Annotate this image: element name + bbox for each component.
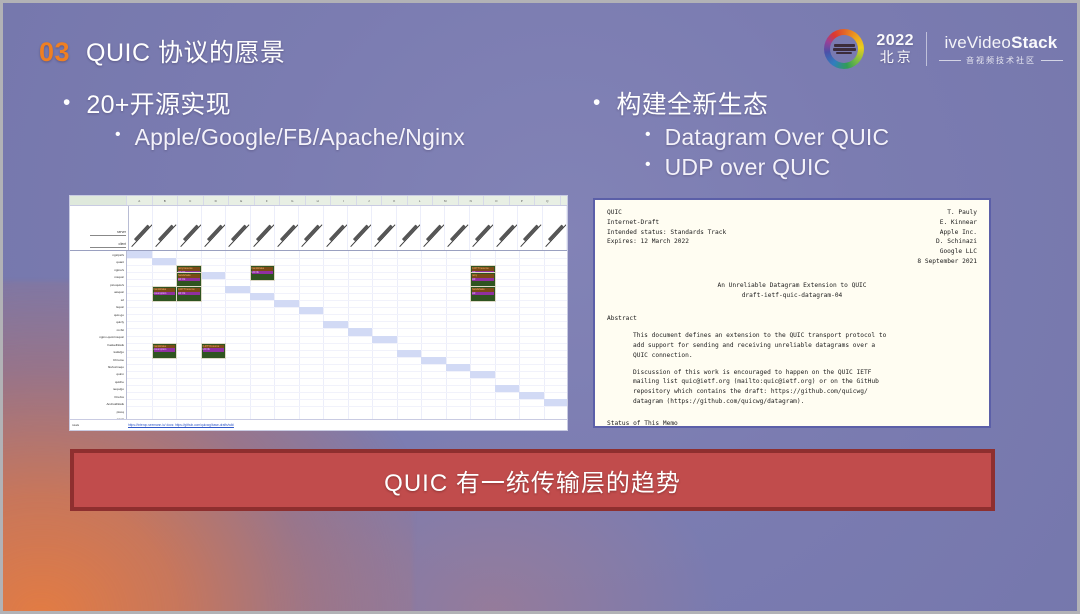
diagonal-text-mark-icon <box>180 224 201 247</box>
matrix-diagonal-label-cell <box>226 206 250 250</box>
matrix-diagonal-cell[interactable] <box>421 357 446 364</box>
bullet-dot-icon: • <box>115 123 121 147</box>
matrix-result-cell[interactable]: 0-RTT/resumeH3 Ok <box>201 343 227 359</box>
matrix-row-label: quiche <box>70 378 126 385</box>
matrix-axis-label-server: server <box>90 230 126 236</box>
matrix-gridline <box>446 251 447 423</box>
rfc-abstract-paragraph-1: This document defines an extension to th… <box>607 331 977 360</box>
matrix-gridline <box>127 364 567 365</box>
matrix-column-letter: A <box>127 196 153 205</box>
matrix-diagonal-labels <box>129 206 567 250</box>
matrix-diagonal-cell[interactable] <box>446 364 471 371</box>
diagonal-text-mark-icon <box>496 224 517 247</box>
matrix-row-label: aioquic <box>70 288 126 295</box>
brand-live: ive <box>945 33 967 52</box>
matrix-row-label: nginx/s <box>70 266 126 273</box>
brand-subtitle: 音视频技术社区 <box>966 55 1036 66</box>
matrix-column-letter: R <box>561 196 569 205</box>
matrix-result-line: H3 Ok <box>203 348 225 352</box>
bullet-level1-left-text: 20+开源实现 <box>86 91 231 121</box>
matrix-column-letter: B <box>153 196 179 205</box>
bullet-level2-right-2-text: UDP over QUIC <box>665 153 831 181</box>
brand-wordmark: iveVideoStack <box>945 33 1058 53</box>
matrix-diagonal-cell[interactable] <box>274 300 299 307</box>
matrix-row-label: firefox/neqo <box>70 363 126 370</box>
matrix-row-label: Chrome <box>70 356 126 363</box>
matrix-gridline <box>348 251 349 423</box>
matrix-column-letter: E <box>229 196 255 205</box>
matrix-grid: retry/resumeH3 OkhandshakeH3 Ok0-RTT/res… <box>127 251 567 423</box>
matrix-diagonal-cell[interactable] <box>250 293 275 300</box>
matrix-column-letter: I <box>331 196 357 205</box>
bullet-column-right: • 构建全新生态 • Datagram Over QUIC • UDP over… <box>593 91 889 181</box>
matrix-diagonal-label-cell <box>202 206 226 250</box>
conclusion-banner: QUIC 有一统传输层的趋势 <box>70 449 995 511</box>
matrix-row-label: msquic <box>70 273 126 280</box>
brand-rule-left-icon <box>939 60 961 61</box>
matrix-column-letter: K <box>382 196 408 205</box>
matrix-result-cell[interactable]: handshakeresumption <box>152 343 178 359</box>
matrix-diagonal-cell[interactable] <box>470 371 495 378</box>
matrix-gridline <box>299 251 300 423</box>
matrix-gridline <box>225 251 226 423</box>
matrix-row-label: picoquic/s <box>70 281 126 288</box>
matrix-diagonal-label-cell <box>543 206 567 250</box>
matrix-column-letter: D <box>204 196 230 205</box>
matrix-body: ngtcp2/squantnginx/smsquicpicoquic/saioq… <box>70 251 567 423</box>
matrix-gridline <box>544 251 545 423</box>
bullet-level2-left-1-text: Apple/Google/FB/Apache/Nginx <box>135 123 465 151</box>
rfc-header-right: T. Pauly E. Kinnear Apple Inc. D. Schina… <box>917 208 977 267</box>
quic-interop-matrix-screenshot: ABCDEFGHIJKLMNOPQR server client ngtcp2/… <box>69 195 568 431</box>
matrix-diagonal-cell[interactable] <box>299 307 324 314</box>
matrix-diagonal-label-cell <box>275 206 299 250</box>
brand-subtitle-row: 音视频技术社区 <box>939 55 1063 66</box>
bullet-level1-right: • 构建全新生态 <box>593 91 889 121</box>
matrix-gridline <box>127 357 567 358</box>
matrix-gridline <box>127 399 567 400</box>
matrix-result-line: H3 Ok <box>252 271 274 275</box>
matrix-result-line: resumption <box>154 292 176 296</box>
diagonal-text-mark-icon <box>156 224 177 247</box>
matrix-gridline <box>397 251 398 423</box>
slide-canvas: 03 QUIC 协议的愿景 2022 北京 iveVideoStack 音视频技… <box>0 0 1080 614</box>
matrix-footer-link[interactable]: https://interop.seemann.io/ docs: https:… <box>128 423 234 427</box>
bullet-level2-right-2: • UDP over QUIC <box>645 153 889 181</box>
matrix-gridline <box>127 314 567 315</box>
diagonal-text-mark-icon <box>448 224 469 247</box>
matrix-row-label: quinn <box>70 371 126 378</box>
bullet-level1-right-text: 构建全新生态 <box>616 91 768 121</box>
matrix-gridline <box>323 251 324 423</box>
matrix-row-label: quic-go <box>70 311 126 318</box>
event-year-city: 2022 北京 <box>876 33 914 64</box>
diagonal-text-mark-icon <box>545 224 566 247</box>
matrix-row-label: Firefox <box>70 393 126 400</box>
logo-divider <box>926 32 927 66</box>
matrix-result-line: H3 <box>472 278 494 282</box>
bullet-level2-right-1: • Datagram Over QUIC <box>645 123 889 151</box>
matrix-result-line: H3 Ok <box>178 278 200 282</box>
matrix-diagonal-cell[interactable] <box>348 328 373 335</box>
bullet-level2-right-1-text: Datagram Over QUIC <box>665 123 890 151</box>
ring-core-mark-icon <box>832 41 857 57</box>
event-logo-bar: 2022 北京 iveVideoStack 音视频技术社区 <box>824 29 1063 69</box>
event-ring-logo-icon <box>824 29 864 69</box>
matrix-axis-label-client: client <box>90 242 126 248</box>
section-number: 03 <box>39 37 70 68</box>
matrix-column-letter: C <box>178 196 204 205</box>
rfc-status-heading: Status of This Memo <box>607 419 977 428</box>
matrix-corner-cell <box>70 196 127 205</box>
matrix-diagonal-label-cell <box>299 206 323 250</box>
matrix-gridline <box>127 392 567 393</box>
matrix-column-letter: G <box>280 196 306 205</box>
matrix-diagonal-label-cell <box>129 206 153 250</box>
bullet-dot-icon: • <box>593 91 600 114</box>
matrix-result-line: H3 <box>472 292 494 296</box>
diagonal-text-mark-icon <box>472 224 493 247</box>
matrix-result-line: H3 Ok <box>178 292 200 296</box>
matrix-column-letter: P <box>510 196 536 205</box>
matrix-row-label: mvfst <box>70 326 126 333</box>
matrix-result-cell[interactable]: handshakeH3 Ok <box>250 265 276 281</box>
matrix-diagonal-label-cell <box>470 206 494 250</box>
matrix-diagonal-cell[interactable] <box>397 350 422 357</box>
rfc-title: An Unreliable Datagram Extension to QUIC… <box>607 281 977 301</box>
matrix-gridline <box>127 378 567 379</box>
matrix-gridline <box>127 371 567 372</box>
event-city: 北京 <box>877 50 914 65</box>
diagonal-text-mark-icon <box>423 224 444 247</box>
matrix-result-cell[interactable]: 0-RTT/resumeH3 Ok <box>176 286 202 302</box>
matrix-column-letter: O <box>484 196 510 205</box>
diagonal-text-mark-icon <box>350 224 371 247</box>
matrix-gridline <box>127 307 567 308</box>
matrix-diagonal-cell[interactable] <box>519 392 544 399</box>
ietf-draft-datagram-screenshot: QUIC Internet-Draft Intended status: Sta… <box>593 198 991 428</box>
matrix-column-letter: L <box>408 196 434 205</box>
brand-video: Video <box>967 33 1011 52</box>
matrix-diagonal-label-cell <box>348 206 372 250</box>
event-year: 2022 <box>876 33 914 50</box>
matrix-column-letter: M <box>433 196 459 205</box>
matrix-column-letter: Q <box>535 196 561 205</box>
rfc-header-left: QUIC Internet-Draft Intended status: Sta… <box>607 208 726 267</box>
matrix-row-label: s2 <box>70 296 126 303</box>
matrix-gridline <box>127 350 567 351</box>
section-title: QUIC 协议的愿景 <box>86 33 285 69</box>
matrix-row-labels: ngtcp2/squantnginx/smsquicpicoquic/saioq… <box>70 251 127 423</box>
matrix-diagonal-label-cell <box>372 206 396 250</box>
matrix-gridline <box>127 406 567 407</box>
matrix-diagonal-label-cell <box>421 206 445 250</box>
diagonal-text-mark-icon <box>375 224 396 247</box>
matrix-gridline <box>127 336 567 337</box>
matrix-result-line: resumption <box>154 348 176 352</box>
matrix-column-letter: F <box>255 196 281 205</box>
matrix-column-letter: N <box>459 196 485 205</box>
diagonal-text-mark-icon <box>253 224 274 247</box>
matrix-row-label: ngtcp2/s <box>70 251 126 258</box>
matrix-diagonal-cell[interactable] <box>372 336 397 343</box>
matrix-gridline <box>421 251 422 423</box>
bullet-level1-left: • 20+开源实现 <box>63 91 465 121</box>
matrix-row-label: nginx-quic/msquic <box>70 333 126 340</box>
matrix-column-letter: J <box>357 196 383 205</box>
diagonal-text-mark-icon <box>399 224 420 247</box>
bullet-dot-icon: • <box>63 91 70 114</box>
matrix-row-label: kwik/go <box>70 348 126 355</box>
bullet-dot-icon: • <box>645 153 651 177</box>
matrix-row-label: picoq <box>70 408 126 415</box>
diagonal-text-mark-icon <box>302 224 323 247</box>
matrix-diagonal-cell[interactable] <box>495 385 520 392</box>
diagonal-text-mark-icon <box>229 224 250 247</box>
matrix-gridline <box>127 258 567 259</box>
matrix-row-label: quicly <box>70 318 126 325</box>
brand-stack: Stack <box>1011 33 1057 52</box>
conclusion-banner-text: QUIC 有一统传输层的趋势 <box>384 463 681 498</box>
diagonal-text-mark-icon <box>326 224 347 247</box>
matrix-column-letters-row: ABCDEFGHIJKLMNOPQR <box>70 196 567 206</box>
matrix-diagonal-label-cell <box>494 206 518 250</box>
matrix-footer: totals https://interop.seemann.io/ docs:… <box>70 419 567 430</box>
matrix-row-label: neqo/go <box>70 386 126 393</box>
matrix-diagonal-cell[interactable] <box>152 258 177 265</box>
rfc-abstract-paragraph-2: Discussion of this work is encouraged to… <box>607 368 977 407</box>
matrix-result-cell[interactable]: handshakeH3 <box>470 286 496 302</box>
diagonal-text-mark-icon <box>131 224 152 247</box>
matrix-header-corner: server client <box>70 206 129 250</box>
matrix-diagonal-label-cell <box>178 206 202 250</box>
bullet-level2-left-1: • Apple/Google/FB/Apache/Nginx <box>115 123 465 151</box>
diagonal-text-mark-icon <box>277 224 298 247</box>
matrix-diagonal-label-cell <box>518 206 542 250</box>
matrix-row-label: lsquic <box>70 303 126 310</box>
matrix-result-cell[interactable]: handshakeresumption <box>152 286 178 302</box>
diagonal-text-mark-icon <box>521 224 542 247</box>
bullet-column-left: • 20+开源实现 • Apple/Google/FB/Apache/Nginx <box>63 91 465 151</box>
bullet-dot-icon: • <box>645 123 651 147</box>
diagonal-text-mark-icon <box>204 224 225 247</box>
matrix-diagonal-label-cell <box>445 206 469 250</box>
matrix-row-label: Android/kwik <box>70 401 126 408</box>
matrix-diagonal-cell[interactable] <box>201 272 226 279</box>
matrix-row-label: haskell/kwik <box>70 341 126 348</box>
rfc-header: QUIC Internet-Draft Intended status: Sta… <box>607 208 977 267</box>
page-title: 03 QUIC 协议的愿景 <box>39 33 286 69</box>
matrix-gridline <box>152 251 153 423</box>
matrix-diagonal-cell[interactable] <box>544 399 569 406</box>
matrix-diagonal-label-cell <box>397 206 421 250</box>
matrix-diagonal-cell[interactable] <box>225 286 250 293</box>
matrix-footer-label: totals <box>70 423 128 427</box>
matrix-row-label: quant <box>70 258 126 265</box>
brand-logo: iveVideoStack 音视频技术社区 <box>939 33 1063 66</box>
matrix-gridline <box>127 343 567 344</box>
matrix-diagonal-label-cell <box>251 206 275 250</box>
rfc-abstract-heading: Abstract <box>607 314 977 324</box>
matrix-diagonal-header: server client <box>70 206 567 251</box>
brand-rule-right-icon <box>1041 60 1063 61</box>
matrix-diagonal-cell[interactable] <box>323 321 348 328</box>
matrix-diagonal-label-cell <box>153 206 177 250</box>
matrix-diagonal-label-cell <box>324 206 348 250</box>
matrix-diagonal-cell[interactable] <box>127 251 152 258</box>
matrix-column-letter: H <box>306 196 332 205</box>
